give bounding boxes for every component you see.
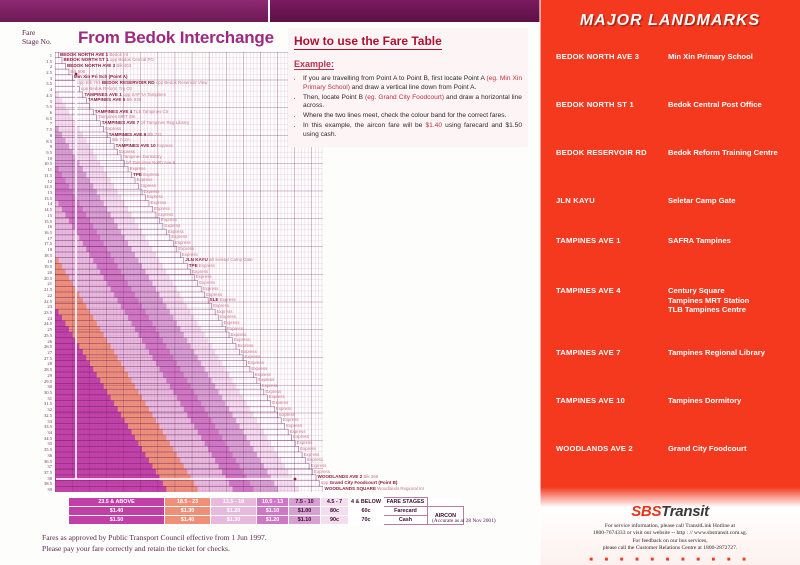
bus-stop-label: TAMPINES AVE 1 opp SAFRA Tampines [84, 92, 166, 97]
bus-stop-label: Express [137, 177, 153, 182]
fare-table-row-cash: $1.50$1.40$1.30$1.20$1.1090c70cCash [69, 516, 464, 525]
bus-stop-label: Express [272, 400, 288, 405]
footnote-line-2: Please pay your fare correctly and retai… [42, 543, 267, 554]
page-title: From Bedok Interchange [78, 28, 274, 48]
bus-stop-label: Blk 742A [112, 137, 130, 142]
fare-stage-number: 7.5 [0, 127, 52, 132]
landmark-place-name: Tampines Dormitory [668, 396, 798, 406]
bus-stop-label: Express [130, 166, 146, 171]
service-info-line-1: For service information, please call Tra… [548, 523, 792, 530]
bus-stop-label: TAMPINES AVE 10 Express [116, 143, 173, 148]
bus-stop-label: Express [192, 269, 208, 274]
fare-stage-number: 2 [0, 64, 52, 69]
fare-stage-number: 17 [0, 236, 52, 241]
fare-stage-number: 1.5 [0, 59, 52, 64]
fare-stage-number: 27.5 [0, 356, 52, 361]
fare-stage-number: 39 [0, 487, 52, 492]
service-info-line-3: For feedback on our bus services, [548, 538, 792, 545]
bus-stop-label: Express [224, 320, 240, 325]
fare-stage-number: 12.5 [0, 184, 52, 189]
fare-stage-number: 7 [0, 121, 52, 126]
service-information-text: For service information, please call Tra… [548, 523, 792, 553]
landmark-place-line: Tampines MRT Station [668, 296, 798, 306]
bus-stop-label: Express [241, 349, 257, 354]
landmark-place-line: Min Xin Primary School [668, 52, 798, 62]
fare-stage-number: 24.5 [0, 321, 52, 326]
landmark-place-line: Tampines Dormitory [668, 396, 798, 406]
fare-stage-number: 31 [0, 396, 52, 401]
fare-stage-range-cell: 10.5 - 13 [257, 498, 289, 507]
fare-stage-header-line2: Stage No. [22, 37, 52, 46]
fare-stage-number: 3 [0, 76, 52, 81]
cash-fare-cell: 70c [349, 516, 384, 525]
fare-stage-number: 35 [0, 441, 52, 446]
landmark-place-name: Tampines Regional Library [668, 348, 798, 358]
bus-stop-label: opp Grand City Foodcourt (Point B) [321, 480, 397, 485]
bus-stop-label: Express [206, 292, 222, 297]
bus-stop-label: Express [203, 286, 219, 291]
farecard-fare-cell: $1.20 [211, 507, 257, 516]
landmark-road-name: TAMPINES AVE 10 [556, 396, 664, 405]
fare-stage-number: 31.5 [0, 401, 52, 406]
landmark-place-name: Bedok Central Post Office [668, 100, 798, 110]
fare-stage-number: 10.5 [0, 161, 52, 166]
fare-stage-number: 10 [0, 156, 52, 161]
bus-stop-label: Express [244, 354, 260, 359]
sbs-transit-logo: SBSTransit [540, 503, 800, 520]
bus-stop-label: WOODLANDS AVE 2 Blk 369 [318, 474, 379, 479]
cash-fare-cell: $1.40 [165, 516, 211, 525]
cash-fare-cell: $1.30 [211, 516, 257, 525]
fare-stage-no-header: Fare Stage No. [22, 28, 52, 46]
bus-stop-label: TAMPINES AVE 5 Blk 938 [88, 97, 141, 102]
bus-stop-label: Express [175, 240, 191, 245]
major-landmarks-panel: MAJOR LANDMARKS BEDOK NORTH AVE 3Min Xin… [540, 0, 800, 565]
bus-stop-label: Blk 506 [70, 69, 85, 74]
fare-stage-number: 23.5 [0, 310, 52, 315]
landmark-road-name: BEDOK NORTH ST 1 [556, 100, 664, 109]
bus-stop-label: Tampines Dormitory [123, 154, 162, 159]
how-to-bullet: If you are travelling from Point A to Po… [303, 75, 522, 92]
cash-row-header: Cash [383, 516, 427, 525]
bus-stop-label: Express [286, 423, 302, 428]
how-to-use-bullets: If you are travelling from Point A to Po… [294, 75, 522, 140]
fare-stage-number: 9 [0, 144, 52, 149]
farecard-fare-cell: $1.30 [165, 507, 211, 516]
landmark-place-name: Min Xin Primary School [668, 52, 798, 62]
fare-stage-number: 13 [0, 190, 52, 195]
fare-stage-number: 3.5 [0, 81, 52, 86]
fare-stages-header: FARE STAGES [383, 498, 427, 507]
fare-stage-number: 24 [0, 316, 52, 321]
bus-stop-label: WOODLANDS SQUARE Woodlands Regional Int [325, 486, 424, 491]
landmark-place-name: Grand City Foodcourt [668, 444, 798, 454]
fare-stage-number: 21 [0, 281, 52, 286]
logo-sbs-text: SBS [631, 503, 661, 520]
bus-stop-label: BEDOK NORTH AVE 1 Bedok Int [60, 52, 128, 57]
fare-stage-number: 33 [0, 419, 52, 424]
fare-table-brochure: Fare Stage No. From Bedok Interchange [0, 0, 800, 565]
fare-stage-number: 37.5 [0, 470, 52, 475]
bus-stop-label: Express [234, 337, 250, 342]
bus-stop-label: Express [297, 440, 313, 445]
bus-stop-label: Express [276, 406, 292, 411]
fare-stage-number: 37 [0, 464, 52, 469]
how-to-bullet: Where the two lines meet, check the colo… [303, 112, 522, 121]
bus-stop-label: Express [144, 189, 160, 194]
fare-stage-number: 18 [0, 247, 52, 252]
accuracy-note: (Accurate as at 28 Nov 2001) [432, 518, 496, 524]
bus-stop-label: Express [105, 126, 121, 131]
landmark-road-name: TAMPINES AVE 4 [556, 286, 664, 295]
bus-stop-label: Express [178, 246, 194, 251]
bus-stop-label: Express [157, 212, 173, 217]
bus-stop-label: TPE Express [189, 263, 215, 268]
bus-stop-label: Express [307, 457, 323, 462]
fare-stage-number: 18.5 [0, 253, 52, 258]
bus-stop-label: Express [182, 252, 198, 257]
bus-stop-label: Tampines MRT Stn [98, 114, 135, 119]
fare-stage-number: 15.5 [0, 219, 52, 224]
fare-stage-number: 36.5 [0, 459, 52, 464]
bus-stop-label: Express [231, 332, 247, 337]
fare-stage-number: 32.5 [0, 413, 52, 418]
fare-stage-number: 11 [0, 167, 52, 172]
fare-stage-number: 29.5 [0, 379, 52, 384]
fare-stage-number: 16.5 [0, 230, 52, 235]
bus-stop-label: Express [168, 229, 184, 234]
landmark-place-line: Bedok Reform Training Centre [668, 148, 798, 158]
farecard-fare-cell: 80c [321, 507, 349, 516]
fare-stage-number: 6 [0, 110, 52, 115]
fare-stage-number: 38.5 [0, 481, 52, 486]
fare-stage-number: 34.5 [0, 436, 52, 441]
landmark-place-line: Grand City Foodcourt [668, 444, 798, 454]
service-info-line-2: 1800-7674333 or visit our website -- htt… [548, 530, 792, 537]
fare-stage-number: 32 [0, 407, 52, 412]
bus-stop-label: Express [164, 223, 180, 228]
fare-stage-number: 5 [0, 99, 52, 104]
fare-stage-number: 35.5 [0, 447, 52, 452]
fare-stage-number: 4.5 [0, 93, 52, 98]
fare-stage-number: 13.5 [0, 196, 52, 201]
point-b-marker [294, 478, 297, 481]
fare-stage-number: 30.5 [0, 390, 52, 395]
fare-stage-number: 5.5 [0, 104, 52, 109]
footnote-line-1: Fares as approved by Public Transport Co… [42, 532, 267, 543]
landmark-place-name: SAFRA Tampines [668, 236, 798, 246]
landmark-road-name: TAMPINES AVE 7 [556, 348, 664, 357]
how-to-bullet: In this example, the aircon fare will be… [303, 122, 522, 139]
fare-stage-number: 17.5 [0, 241, 52, 246]
farecard-fare-cell: $1.00 [289, 507, 321, 516]
how-to-use-panel: How to use the Fare Table Example: If yo… [288, 28, 528, 147]
fare-stage-number: 29 [0, 373, 52, 378]
fare-stage-number: 15 [0, 213, 52, 218]
fare-stage-number: 20 [0, 270, 52, 275]
landmark-road-name: BEDOK NORTH AVE 3 [556, 52, 664, 61]
bus-stop-label: Express [258, 377, 274, 382]
fare-stage-number: 25.5 [0, 333, 52, 338]
cash-fare-cell: $1.20 [257, 516, 289, 525]
bus-stop-label: Min Xin Pri Sch (Point A) [74, 74, 128, 79]
fare-stage-number: 26.5 [0, 344, 52, 349]
cash-fare-cell: $1.10 [289, 516, 321, 525]
fare-stage-number: 27 [0, 350, 52, 355]
landmark-place-line: Tampines Regional Library [668, 348, 798, 358]
farecard-fare-cell: $1.40 [69, 507, 165, 516]
fare-stage-number: 12 [0, 179, 52, 184]
footnotes: Fares as approved by Public Transport Co… [42, 532, 267, 554]
bus-stop-label: Express [147, 194, 163, 199]
bus-stop-label: TAMPINES AVE 7 b/f Tampines Reg Library [102, 120, 189, 125]
bus-stop-label: Express [161, 217, 177, 222]
bus-stop-label: Express [227, 326, 243, 331]
decorative-dots: ■ ■ ■ ■ ■ ■ ■ ■ ■ ■ ■ [540, 557, 800, 563]
fare-stage-range-cell: 18.5 - 23 [165, 498, 211, 507]
bus-stop-label: Express [237, 343, 253, 348]
landmark-place-name: Seletar Camp Gate [668, 196, 798, 206]
bus-stop-label: opp Bedok Reform Trg Ctr [81, 86, 132, 91]
fare-table-row-farecard: $1.40$1.30$1.20$1.10$1.0080c60cFarecardA… [69, 507, 464, 516]
fare-stage-number: 8.5 [0, 139, 52, 144]
bus-stop-label: Express [255, 372, 271, 377]
bus-stop-label: Express [150, 200, 166, 205]
fare-stage-number: 22.5 [0, 299, 52, 304]
fare-stage-number: 6.5 [0, 116, 52, 121]
bus-stop-label: Express [199, 280, 215, 285]
bus-stop-label: BEDOK NORTH ST 1 opp Bedok Central PO [63, 57, 153, 62]
bus-stop-label: Express [154, 206, 170, 211]
bus-stop-label: Express [314, 469, 330, 474]
fare-stage-number: 9.5 [0, 150, 52, 155]
fare-stage-number: 26 [0, 339, 52, 344]
fare-legend-table: 23.5 & ABOVE18.5 - 2313.5 - 1810.5 - 137… [68, 497, 464, 525]
fare-stage-range-cell: 23.5 & ABOVE [69, 498, 165, 507]
bus-stop-label: b/f Tampines North Ave 5 [126, 160, 175, 165]
logo-transit-text: Transit [661, 503, 709, 520]
fare-stage-number: 16 [0, 224, 52, 229]
bus-stop-label: SLE Express [210, 297, 236, 302]
landmark-place-name: Century SquareTampines MRT StationTLB Ta… [668, 286, 798, 315]
fare-stage-number: 25 [0, 327, 52, 332]
cash-fare-cell: 90c [321, 516, 349, 525]
fare-stage-number: 30 [0, 384, 52, 389]
bus-stop-label: Express [171, 234, 187, 239]
header-band-left [0, 0, 268, 22]
example-label: Example: [294, 59, 334, 70]
bus-stop-label: Express [217, 309, 233, 314]
header-band-right [270, 0, 540, 22]
how-to-bullet: Then, locate Point B (eg. Grand City Foo… [303, 94, 522, 111]
bus-stop-label: TAMPINES AVE 9 Blk 721 [109, 132, 162, 137]
bus-stop-label: Express [269, 394, 285, 399]
bus-stop-label: Express [304, 452, 320, 457]
fare-stage-number: 4 [0, 87, 52, 92]
farecard-fare-cell: $1.10 [257, 507, 289, 516]
landmark-road-name: JLN KAYU [556, 196, 664, 205]
fare-stage-number: 2.5 [0, 70, 52, 75]
fare-stage-number: 14 [0, 201, 52, 206]
fare-stage-number: 8 [0, 133, 52, 138]
fare-stage-number: 28 [0, 361, 52, 366]
bus-stop-label: Express [283, 417, 299, 422]
fare-stage-range-cell: 13.5 - 18 [211, 498, 257, 507]
landmark-place-name: Bedok Reform Training Centre [668, 148, 798, 158]
bus-stop-label: Express [265, 389, 281, 394]
fare-table-row-stages: 23.5 & ABOVE18.5 - 2313.5 - 1810.5 - 137… [69, 498, 464, 507]
landmark-place-line: Bedok Central Post Office [668, 100, 798, 110]
fare-stage-number: 21.5 [0, 287, 52, 292]
fare-stage-header-line1: Fare [22, 28, 52, 37]
fare-stage-number: 38 [0, 476, 52, 481]
fare-stage-range-cell: 4 & BELOW [349, 498, 384, 507]
fare-stage-number: 33.5 [0, 424, 52, 429]
service-info-line-4: please call the Customer Relations Centr… [548, 545, 792, 552]
bus-stop-label: opp Blk 761 BEDOK RESERVOIR RD opp Bedok… [77, 80, 207, 85]
landmark-place-line: SAFRA Tampines [668, 236, 798, 246]
bus-stop-label: Express [248, 360, 264, 365]
landmark-place-line: Century Square [668, 286, 798, 296]
bus-stop-label: Express [279, 412, 295, 417]
bus-stop-label: Express [293, 434, 309, 439]
bus-stop-label: Express [290, 429, 306, 434]
fare-table-spacer [427, 498, 463, 507]
farecard-fare-cell: 60c [349, 507, 384, 516]
landmark-place-line: TLB Tampines Centre [668, 305, 798, 315]
major-landmarks-title: MAJOR LANDMARKS [540, 12, 800, 30]
bus-stop-label: Express [196, 274, 212, 279]
fare-stage-range-cell: 4.5 - 7 [321, 498, 349, 507]
bus-stop-label: BEDOK NORTH AVE 3 Blk 403 [67, 63, 131, 68]
bus-stop-label: Express [119, 149, 135, 154]
bus-stop-label: TPE Express [133, 172, 159, 177]
fare-stage-number: 22 [0, 293, 52, 298]
bus-stop-label: Express [140, 183, 156, 188]
panel-seam [539, 0, 541, 565]
bus-stop-label: JLN KAYU aft Seletar Camp Gate [185, 257, 252, 262]
fare-stage-number: 23 [0, 304, 52, 309]
bus-stop-label: Express [262, 383, 278, 388]
fare-stage-number: 14.5 [0, 207, 52, 212]
fare-stage-number: 19 [0, 259, 52, 264]
fare-stage-number: 34 [0, 430, 52, 435]
bus-stop-label: Express [213, 303, 229, 308]
bus-stop-label: Express [311, 463, 327, 468]
fare-stage-number: 1 [0, 53, 52, 58]
landmark-place-line: Seletar Camp Gate [668, 196, 798, 206]
fare-stage-range-cell: 7.5 - 10 [289, 498, 321, 507]
fare-stage-number: 11.5 [0, 173, 52, 178]
farecard-row-header: Farecard [383, 507, 427, 516]
bus-stop-label: TAMPINES AVE 4 TLB Tampines Ctr [95, 109, 169, 114]
sbs-footer: SBSTransit For service information, plea… [540, 487, 800, 565]
bus-stop-label: Express [220, 314, 236, 319]
bus-stop-label: Express [251, 366, 267, 371]
landmark-road-name: BEDOK RESERVOIR RD [556, 148, 664, 157]
landmark-road-name: WOODLANDS AVE 2 [556, 444, 664, 453]
bus-stop-label: Express [300, 446, 316, 451]
fare-stage-number: 36 [0, 453, 52, 458]
cash-fare-cell: $1.50 [69, 516, 165, 525]
fare-stage-number: 28.5 [0, 367, 52, 372]
fare-stage-number: 20.5 [0, 276, 52, 281]
how-to-use-title: How to use the Fare Table [294, 34, 442, 50]
landmark-road-name: TAMPINES AVE 1 [556, 236, 664, 245]
fare-stage-number: 19.5 [0, 264, 52, 269]
